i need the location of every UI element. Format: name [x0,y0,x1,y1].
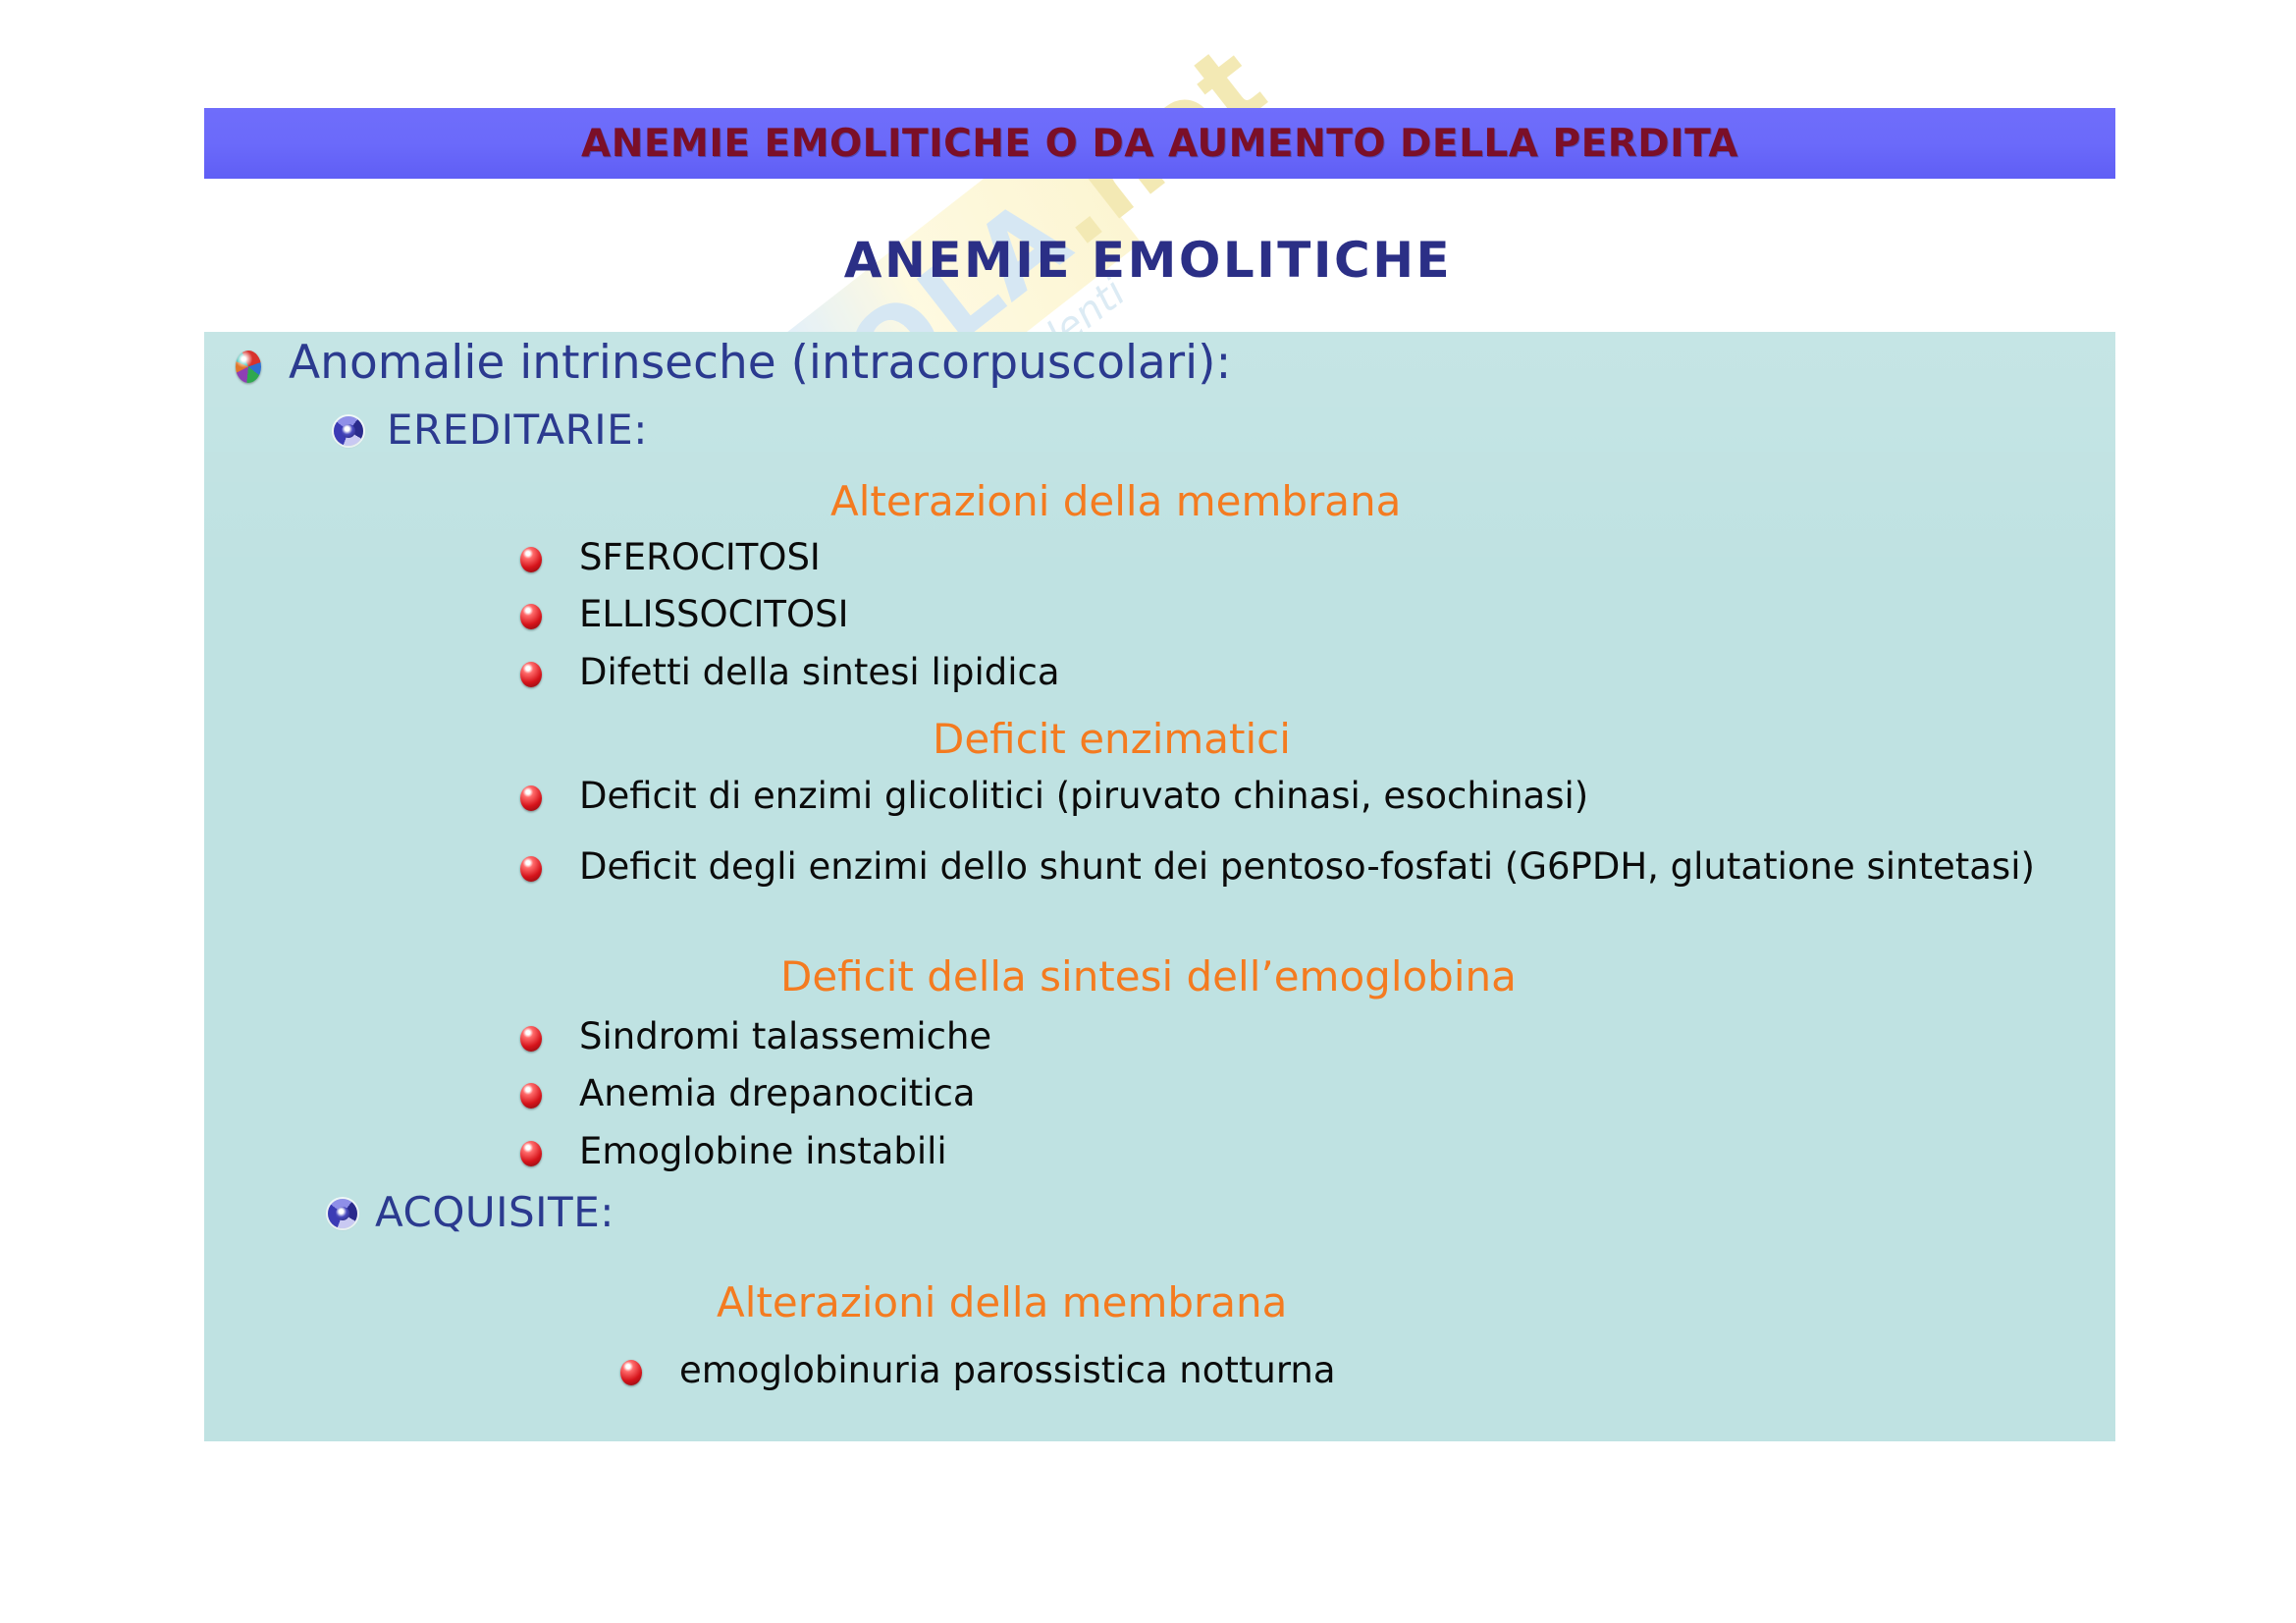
red-sphere-bullet-icon [520,785,542,811]
group-heading-deficit-sintesi-emoglobina: Deficit della sintesi dell’emoglobina [780,952,1517,1001]
list-item-label: Anemia drepanocitica [579,1073,976,1115]
list-item: Sindromi talassemiche [520,1016,991,1058]
list-item: Deficit di enzimi glicolitici (piruvato … [520,776,1588,818]
list-item-label: Deficit di enzimi glicolitici (piruvato … [579,776,1588,818]
group-heading-alterazioni-membrana-1: Alterazioni della membrana [830,477,1401,525]
list-item: Anemia drepanocitica [520,1073,976,1115]
list-item: Difetti della sintesi lipidica [520,652,1060,694]
list-item: Emoglobine instabili [520,1131,947,1173]
rainbow-sphere-bullet-icon [236,351,261,383]
list-item: ELLISSOCITOSI [520,594,848,636]
list-item-label: Difetti della sintesi lipidica [579,652,1060,694]
slide-title-banner: ANEMIE EMOLITICHE O DA AUMENTO DELLA PER… [204,108,2115,179]
red-sphere-bullet-icon [520,856,542,882]
outline-level1-label: Anomalie intrinseche (intracorpuscolari)… [289,339,1231,387]
red-sphere-bullet-icon [520,604,542,629]
outline-section-acquisite-row: ACQUISITE: [328,1191,614,1234]
list-item-label: emoglobinuria parossistica notturna [679,1350,1336,1392]
list-item-label: ELLISSOCITOSI [579,594,848,636]
list-item-label: SFEROCITOSI [579,537,821,579]
group-heading-alterazioni-membrana-2: Alterazioni della membrana [717,1278,1287,1326]
red-sphere-bullet-icon [520,1141,542,1166]
list-item-label: Emoglobine instabili [579,1131,947,1173]
slide-subtitle: ANEMIE EMOLITICHE [844,232,1452,289]
red-sphere-bullet-icon [520,547,542,572]
outline-section-ereditarie-label: EREDITARIE: [387,408,648,452]
red-sphere-bullet-icon [620,1360,642,1385]
slide-subtitle-area: ANEMIE EMOLITICHE [0,232,2296,289]
group-heading-deficit-enzimatici: Deficit enzimatici [933,715,1291,763]
list-item-label: Deficit degli enzimi dello shunt dei pen… [579,846,2086,889]
slide-title: ANEMIE EMOLITICHE O DA AUMENTO DELLA PER… [581,122,1738,166]
list-item: emoglobinuria parossistica notturna [620,1350,1336,1392]
list-item: Deficit degli enzimi dello shunt dei pen… [520,846,2101,889]
list-item-label: Sindromi talassemiche [579,1016,991,1058]
red-sphere-bullet-icon [520,662,542,687]
list-item: SFEROCITOSI [520,537,821,579]
red-sphere-bullet-icon [520,1083,542,1109]
outline-section-ereditarie-row: EREDITARIE: [334,408,648,452]
red-sphere-bullet-icon [520,1026,542,1052]
swirl-sphere-bullet-icon [334,416,363,446]
swirl-sphere-bullet-icon [328,1199,357,1228]
outline-level1-row: Anomalie intrinseche (intracorpuscolari)… [236,339,1231,387]
outline-section-acquisite-label: ACQUISITE: [375,1191,614,1234]
